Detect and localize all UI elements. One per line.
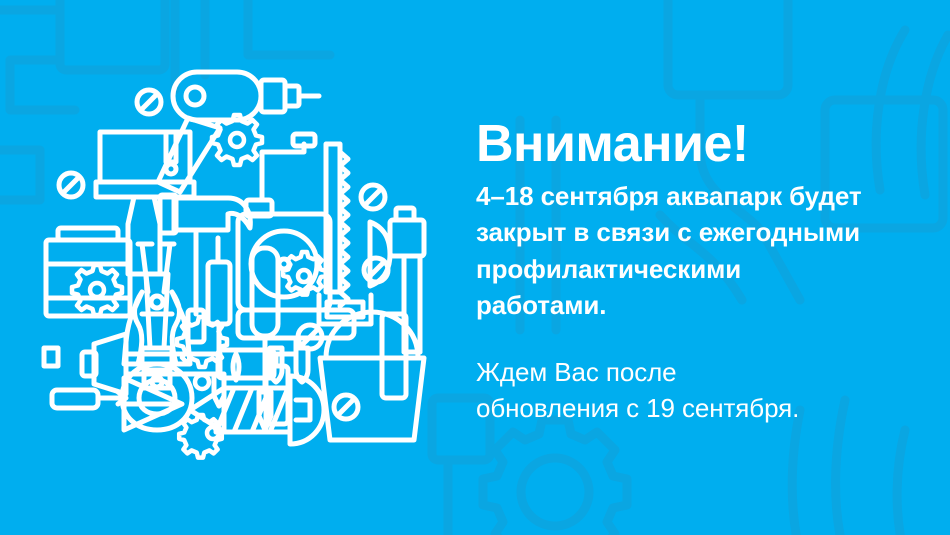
message-text-block: Внимание! 4–18 сентября аквапарк будет з… <box>476 118 926 427</box>
closure-notice: 4–18 сентября аквапарк будет закрыт в св… <box>476 178 926 324</box>
screw-head-icon <box>361 185 385 209</box>
reopen-notice-line-1: Ждем Вас после <box>476 354 926 391</box>
hand-saw-icon <box>319 144 371 324</box>
gear-icon <box>179 415 222 458</box>
page-title: Внимание! <box>476 118 926 170</box>
closure-notice-line-3: профилактическими <box>476 251 926 287</box>
reopen-notice: Ждем Вас после обновления с 19 сентября. <box>476 354 926 428</box>
chisel-icon <box>233 354 239 380</box>
screw-head-icon <box>334 395 358 419</box>
reopen-notice-line-2: обновления с 19 сентября. <box>476 390 926 427</box>
screwdriver-icon <box>208 238 230 406</box>
closure-notice-line-1: 4–18 сентября аквапарк будет <box>476 178 926 214</box>
screw-head-icon <box>137 90 161 114</box>
closure-notice-line-4: работами. <box>476 287 926 323</box>
screw-head-icon <box>59 173 83 197</box>
notice-banner: Внимание! 4–18 сентября аквапарк будет з… <box>0 0 950 535</box>
tools-illustration <box>38 52 438 462</box>
gear-icon <box>72 265 122 315</box>
axe-icon <box>370 208 424 352</box>
closure-notice-line-2: закрыт в связи с ежегодными <box>476 214 926 250</box>
chisel-icon <box>44 348 58 366</box>
